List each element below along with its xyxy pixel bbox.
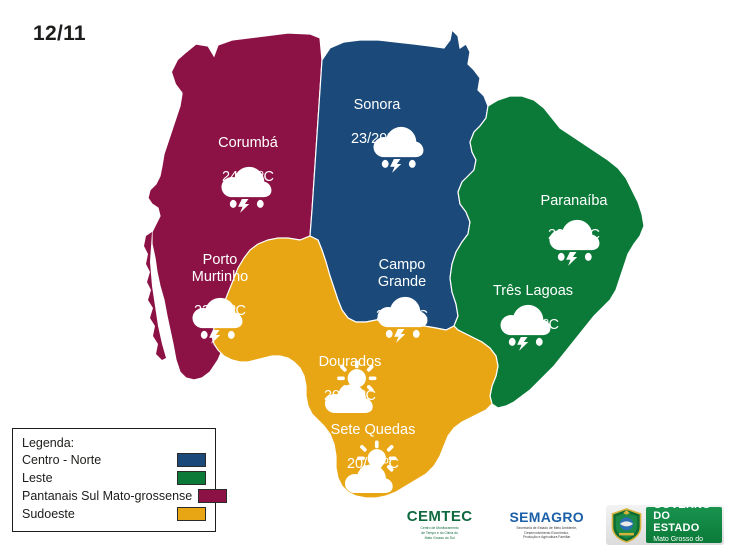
semagro-subtitle: Secretaria de Estado de Meio Ambiente, D… xyxy=(497,526,596,541)
governo-text: GOVERNO DO ESTADO Mato Grosso do Sul xyxy=(646,507,722,543)
legend-item-centro-norte: Centro - Norte xyxy=(22,451,206,469)
weather-map-page: 12/11 xyxy=(0,0,729,549)
cemtec-subtitle: Centro de Monitoramento de Tempo e do Cl… xyxy=(392,526,487,541)
governo-line3: Mato Grosso do Sul xyxy=(653,535,714,553)
legend-label-pantanais: Pantanais Sul Mato-grossense xyxy=(22,489,192,503)
legend-swatch-pantanais xyxy=(198,489,227,503)
cemtec-name: CEMTEC xyxy=(392,509,487,524)
semagro-name: SEMAGRO xyxy=(497,510,596,524)
legend-title: Legenda: xyxy=(22,436,206,450)
legend-item-leste: Leste xyxy=(22,469,206,487)
legend-box: Legenda: Centro - Norte Leste Pantanais … xyxy=(12,428,216,532)
coat-of-arms-icon xyxy=(610,508,643,543)
governo-logo: GOVERNO DO ESTADO Mato Grosso do Sul xyxy=(606,505,724,545)
governo-line2: DO ESTADO xyxy=(653,511,714,534)
legend-item-pantanais: Pantanais Sul Mato-grossense xyxy=(22,487,206,505)
cemtec-logo: CEMTEC Centro de Monitoramento de Tempo … xyxy=(392,509,487,541)
legend-swatch-leste xyxy=(177,471,206,485)
legend-label-leste: Leste xyxy=(22,471,53,485)
footer-logos: CEMTEC Centro de Monitoramento de Tempo … xyxy=(392,503,724,547)
legend-label-sudoeste: Sudoeste xyxy=(22,507,75,521)
legend-swatch-centro-norte xyxy=(177,453,206,467)
legend-item-sudoeste: Sudoeste xyxy=(22,505,206,523)
legend-label-centro-norte: Centro - Norte xyxy=(22,453,101,467)
legend-swatch-sudoeste xyxy=(177,507,206,521)
semagro-logo: SEMAGRO Secretaria de Estado de Meio Amb… xyxy=(497,510,596,541)
